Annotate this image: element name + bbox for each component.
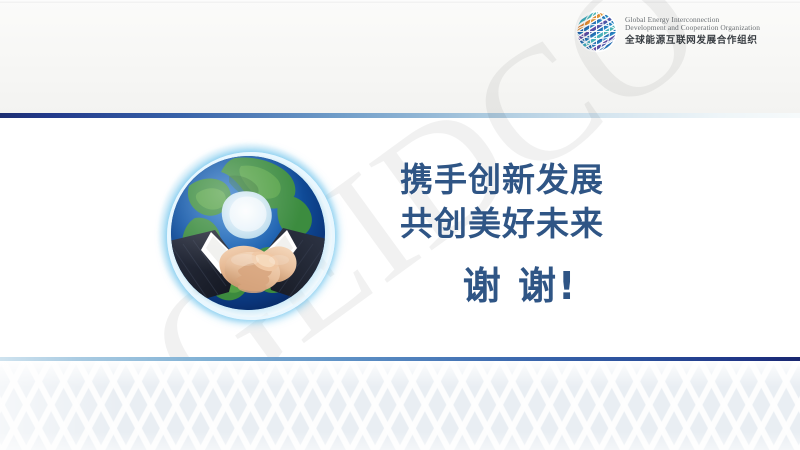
- organization-logo: Global Energy Interconnection Developmen…: [574, 6, 796, 56]
- footer-pattern-band: [0, 361, 800, 450]
- headline-text: 携手创新发展 共创美好未来: [400, 158, 700, 246]
- globe-handshake-emblem: [158, 143, 338, 323]
- presentation-slide: Global Energy Interconnection Developmen…: [0, 0, 800, 450]
- thank-you-text: 谢 谢!: [400, 262, 640, 310]
- emblem-disc: [171, 156, 325, 310]
- footer-bottom-fade: [0, 432, 800, 450]
- logo-text-block: Global Energy Interconnection Developmen…: [625, 16, 760, 47]
- headline-line-1: 携手创新发展: [400, 158, 700, 202]
- headline-line-2: 共创美好未来: [400, 202, 700, 246]
- logo-english-line-2: Development and Cooperation Organization: [625, 24, 760, 33]
- footer-top-fade: [0, 361, 800, 387]
- geidco-globe-logo-icon: [574, 9, 619, 54]
- logo-chinese-name: 全球能源互联网发展合作组织: [625, 35, 760, 46]
